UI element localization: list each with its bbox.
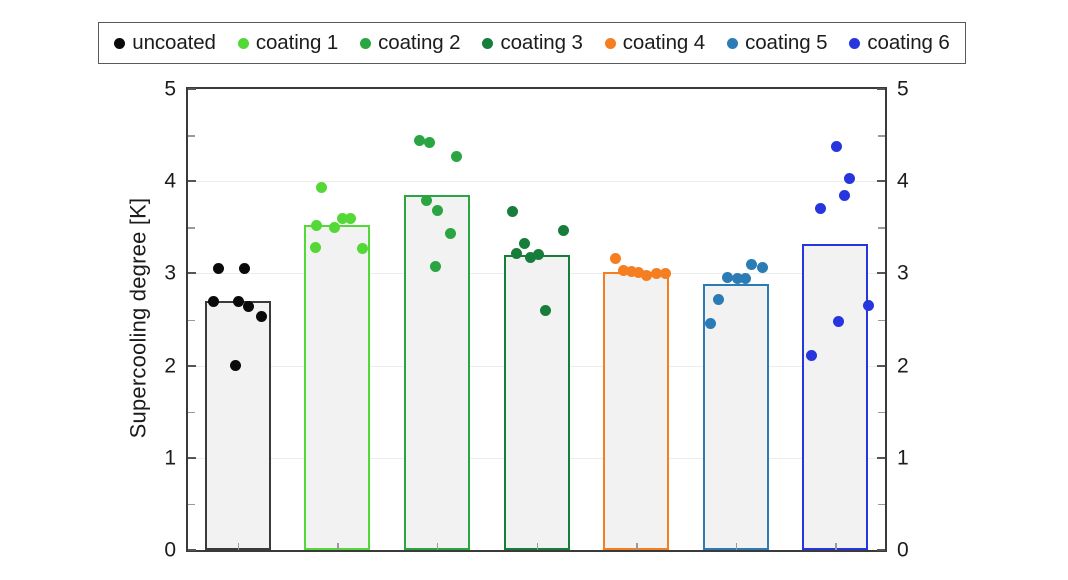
data-point[interactable] [310,242,321,253]
x-tick-coating-6 [835,543,837,550]
data-point[interactable] [432,205,443,216]
y-axis-label-left-0: 0 [164,540,176,561]
y-axis-label-left-1: 1 [164,447,176,468]
data-point[interactable] [430,261,441,272]
legend-label: coating 5 [745,33,827,54]
data-point[interactable] [757,262,768,273]
legend-dot-icon [605,38,616,49]
legend-label: coating 2 [378,33,460,54]
y-axis-label-right-4: 4 [897,171,909,192]
data-point[interactable] [863,300,874,311]
chart-legend: uncoatedcoating 1coating 2coating 3coati… [98,22,966,64]
y-tick-left-4 [188,180,196,182]
data-point[interactable] [208,296,219,307]
y-tick-left-5 [188,88,196,90]
y-axis-label-right-0: 0 [897,540,909,561]
data-point[interactable] [424,137,435,148]
legend-dot-icon [849,38,860,49]
x-tick-coating-3 [537,543,539,550]
bar-uncoated[interactable] [205,301,271,550]
bar-coating-3[interactable] [504,255,570,550]
legend-label: coating 1 [256,33,338,54]
data-point[interactable] [451,151,462,162]
y-axis-label-left-2: 2 [164,355,176,376]
plot-area: 001122334455 [186,87,887,552]
legend-dot-icon [727,38,738,49]
y-axis-label-left-5: 5 [164,79,176,100]
y-minor-tick-left-0.5 [188,504,195,506]
data-point[interactable] [316,182,327,193]
y-tick-left-1 [188,457,196,459]
x-tick-coating-2 [437,543,439,550]
legend-entry-coating-6[interactable]: coating 6 [838,33,960,54]
y-axis-label-right-2: 2 [897,355,909,376]
bar-coating-1[interactable] [304,225,370,550]
data-point[interactable] [213,263,224,274]
data-point[interactable] [833,316,844,327]
y-tick-right-4 [877,180,885,182]
data-point[interactable] [345,213,356,224]
y-minor-tick-left-1.5 [188,412,195,414]
y-axis-label-left-3: 3 [164,263,176,284]
x-tick-coating-5 [736,543,738,550]
y-tick-left-0 [188,549,196,551]
legend-label: coating 3 [500,33,582,54]
data-point[interactable] [558,225,569,236]
data-point[interactable] [839,190,850,201]
data-point[interactable] [831,141,842,152]
supercooling-degree-chart: uncoatedcoating 1coating 2coating 3coati… [0,0,1068,580]
y-minor-tick-right-4.5 [878,135,885,137]
data-point[interactable] [746,259,757,270]
plot-inner: 001122334455 [188,89,885,550]
data-point[interactable] [507,206,518,217]
data-point[interactable] [610,253,621,264]
y-axis-title-text: Supercooling degree [K] [125,197,151,438]
gridline-y-4 [188,181,885,182]
y-minor-tick-right-1.5 [878,412,885,414]
y-tick-right-5 [877,88,885,90]
legend-dot-icon [482,38,493,49]
legend-entry-coating-2[interactable]: coating 2 [349,33,471,54]
data-point[interactable] [233,296,244,307]
y-minor-tick-right-2.5 [878,320,885,322]
data-point[interactable] [511,248,522,259]
legend-dot-icon [360,38,371,49]
bar-coating-6[interactable] [802,244,868,550]
bar-coating-4[interactable] [603,272,669,550]
y-axis-label-left-4: 4 [164,171,176,192]
data-point[interactable] [740,273,751,284]
x-tick-coating-1 [337,543,339,550]
y-minor-tick-right-3.5 [878,227,885,229]
y-tick-left-2 [188,365,196,367]
data-point[interactable] [311,220,322,231]
y-axis-label-right-3: 3 [897,263,909,284]
y-axis-label-right-1: 1 [897,447,909,468]
x-tick-uncoated [238,543,240,550]
y-axis-title: Supercooling degree [K] [123,87,153,548]
data-point[interactable] [519,238,530,249]
bar-coating-2[interactable] [404,195,470,550]
y-tick-right-3 [877,272,885,274]
data-point[interactable] [713,294,724,305]
data-point[interactable] [230,360,241,371]
y-tick-right-1 [877,457,885,459]
data-point[interactable] [660,268,671,279]
y-tick-left-3 [188,272,196,274]
y-minor-tick-left-2.5 [188,320,195,322]
legend-label: coating 4 [623,33,705,54]
y-axis-label-right-5: 5 [897,79,909,100]
y-minor-tick-left-4.5 [188,135,195,137]
legend-dot-icon [114,38,125,49]
data-point[interactable] [815,203,826,214]
data-point[interactable] [705,318,716,329]
y-minor-tick-left-3.5 [188,227,195,229]
y-tick-right-2 [877,365,885,367]
legend-dot-icon [238,38,249,49]
legend-entry-uncoated[interactable]: uncoated [103,33,227,54]
legend-label: uncoated [132,33,216,54]
legend-entry-coating-4[interactable]: coating 4 [594,33,716,54]
legend-label: coating 6 [867,33,949,54]
legend-entry-coating-5[interactable]: coating 5 [716,33,838,54]
data-point[interactable] [844,173,855,184]
y-minor-tick-right-0.5 [878,504,885,506]
legend-entry-coating-1[interactable]: coating 1 [227,33,349,54]
y-tick-right-0 [877,549,885,551]
legend-entry-coating-3[interactable]: coating 3 [471,33,593,54]
x-tick-coating-4 [636,543,638,550]
